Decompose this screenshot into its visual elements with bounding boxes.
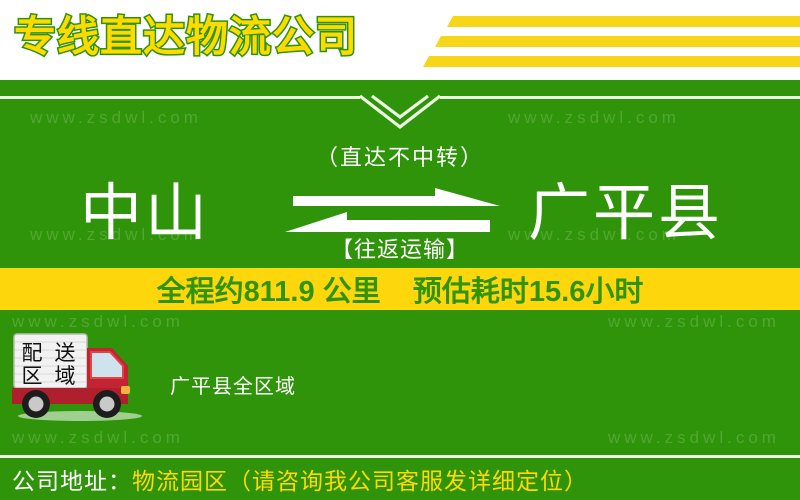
logistics-route-banner: 专线直达物流公司 www.zsdwl.com www.zsdwl.com www… (0, 0, 800, 500)
distance-duration-text: 全程约811.9 公里 预估耗时15.6小时 (157, 268, 644, 310)
stripe-3 (423, 56, 800, 67)
watermark: www.zsdwl.com (30, 108, 202, 128)
address-label: 公司地址： (12, 462, 132, 496)
company-address-bar: 公司地址： 物流园区（请咨询我公司客服发详细定位） (0, 458, 800, 500)
stripe-2 (435, 36, 800, 47)
address-value: 物流园区（请咨询我公司客服发详细定位） (132, 462, 588, 496)
banner-header: 专线直达物流公司 (0, 0, 800, 80)
stripe-1 (447, 16, 800, 27)
company-title: 专线直达物流公司 (14, 8, 358, 66)
delivery-truck-icon: 配 送 区 域 (8, 328, 158, 423)
watermark: www.zsdwl.com (12, 428, 184, 448)
watermark: www.zsdwl.com (508, 108, 680, 128)
delivery-area-label: 广平县全区域 (170, 370, 296, 399)
watermark: www.zsdwl.com (608, 312, 780, 332)
double-horizontal-arrow-icon (285, 188, 500, 234)
watermark: www.zsdwl.com (608, 428, 780, 448)
svg-text:配: 配 (22, 342, 43, 365)
distance-band: 全程约811.9 公里 预估耗时15.6小时 (0, 268, 800, 310)
double-chevron-down-icon (352, 91, 448, 133)
round-trip-note: 【往返运输】 (0, 232, 800, 264)
decorative-stripes (420, 14, 800, 70)
svg-text:区: 区 (22, 365, 43, 388)
banner-body: www.zsdwl.com www.zsdwl.com www.zsdwl.co… (0, 80, 800, 500)
top-divider-right (440, 96, 800, 99)
svg-text:送: 送 (55, 342, 76, 365)
top-divider-left (0, 96, 360, 99)
svg-text:域: 域 (55, 365, 76, 388)
